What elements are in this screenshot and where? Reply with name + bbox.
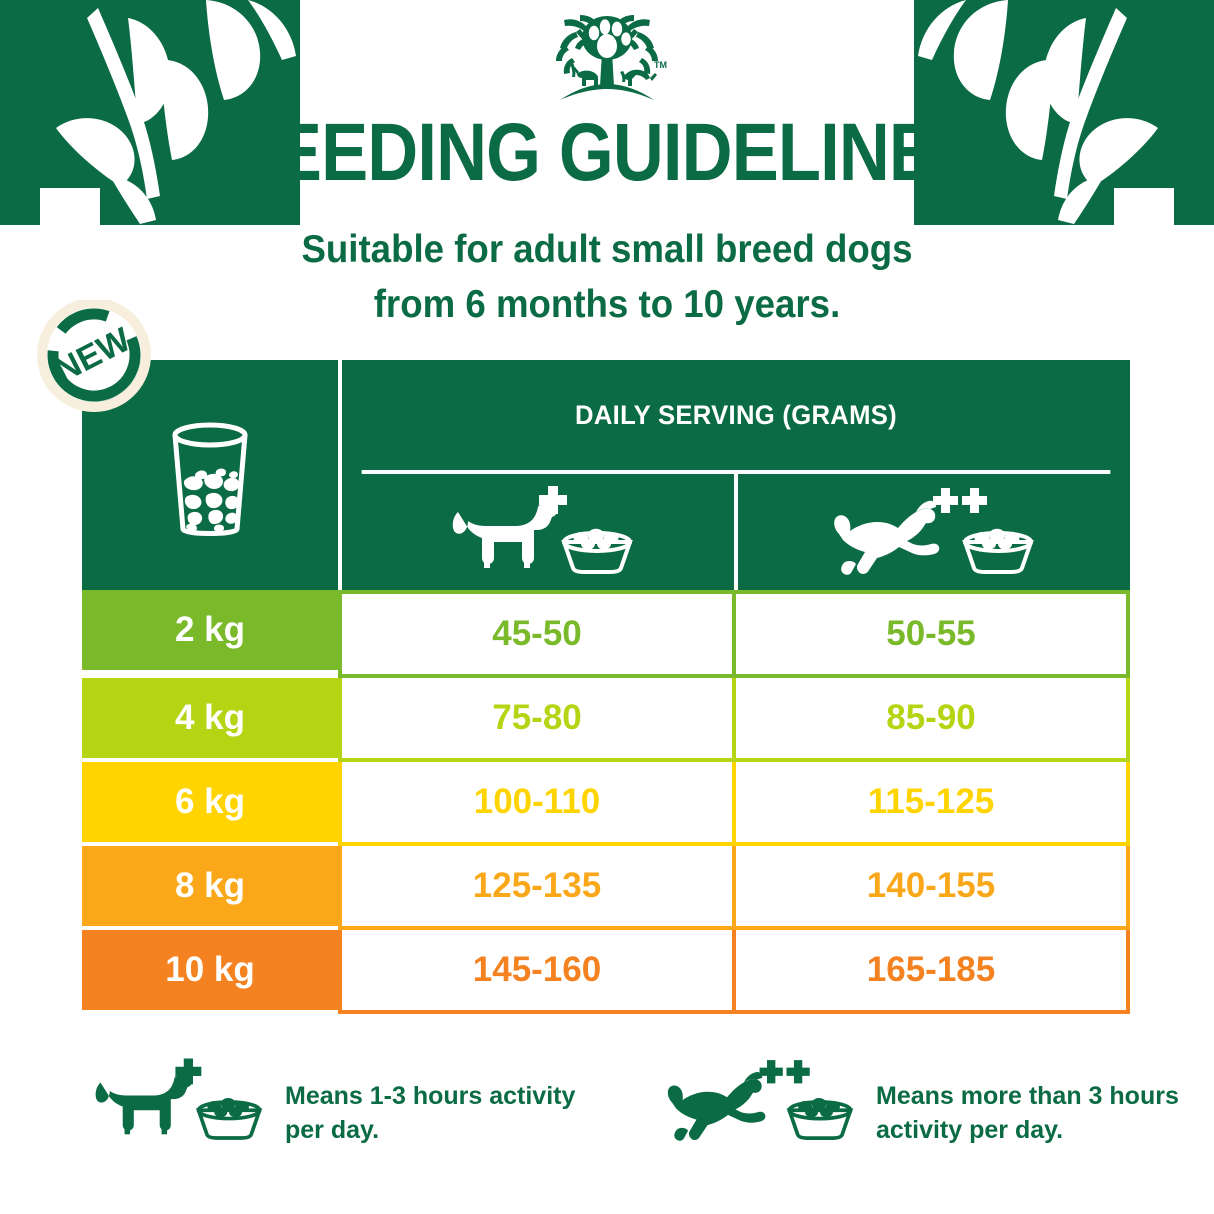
legend: Means 1-3 hours activity per day. — [0, 1050, 1214, 1170]
row-values: 75-8085-90 — [338, 678, 1130, 762]
row-high-activity-value: 50-55 — [732, 594, 1126, 674]
row-low-activity-value: 75-80 — [342, 678, 732, 758]
row-low-activity-value: 100-110 — [342, 762, 732, 842]
table-header: DAILY SERVING (GRAMS) — [82, 360, 1130, 590]
new-badge: NEW — [26, 300, 176, 418]
table-row: 6 kg100-110115-125 — [82, 762, 1130, 846]
row-values: 125-135140-155 — [338, 846, 1130, 930]
standing-dog-bowl-icon — [82, 1058, 267, 1144]
row-high-activity-value: 165-185 — [732, 930, 1126, 1010]
row-weight-cell: 8 kg — [82, 846, 338, 926]
table-row: 10 kg145-160165-185 — [82, 930, 1130, 1014]
page-subtitle: Suitable for adult small breed dogs from… — [36, 222, 1177, 333]
trademark-mark: TM — [654, 60, 667, 70]
tree-paw-logo-icon: TM — [542, 14, 672, 106]
daily-serving-header: DAILY SERVING (GRAMS) — [362, 360, 1111, 474]
row-low-activity-value: 145-160 — [342, 930, 732, 1010]
standing-dog-bowl-icon — [342, 474, 734, 590]
legend-text-low-activity: Means 1-3 hours activity per day. — [285, 1058, 575, 1147]
row-values: 145-160165-185 — [338, 930, 1130, 1014]
row-weight-cell: 2 kg — [82, 590, 338, 670]
row-high-activity-value: 115-125 — [732, 762, 1126, 842]
legend-item-high-activity: Means more than 3 hours activity per day… — [663, 1058, 1179, 1147]
table-row: 4 kg75-8085-90 — [82, 678, 1130, 762]
subtitle-line-1: Suitable for adult small breed dogs — [301, 228, 912, 271]
table-body: 2 kg45-5050-554 kg75-8085-906 kg100-1101… — [82, 590, 1130, 1014]
row-high-activity-value: 140-155 — [732, 846, 1126, 926]
infographic-page: TM FEEDING GUIDELINES Suitable for adult… — [0, 0, 1214, 1214]
feeding-table: DAILY SERVING (GRAMS) — [82, 360, 1130, 1014]
jumping-dog-bowl-icon — [663, 1058, 858, 1144]
page-title: FEEDING GUIDELINES — [85, 112, 1129, 194]
legend-text-high-activity: Means more than 3 hours activity per day… — [876, 1058, 1179, 1147]
jumping-dog-bowl-icon — [734, 474, 1130, 590]
row-weight-cell: 6 kg — [82, 762, 338, 842]
table-row: 2 kg45-5050-55 — [82, 590, 1130, 678]
row-values: 100-110115-125 — [338, 762, 1130, 846]
legend-item-low-activity: Means 1-3 hours activity per day. — [82, 1058, 575, 1147]
row-values: 45-5050-55 — [338, 590, 1130, 678]
table-row: 8 kg125-135140-155 — [82, 846, 1130, 930]
row-low-activity-value: 125-135 — [342, 846, 732, 926]
subtitle-line-2: from 6 months to 10 years. — [36, 277, 1177, 332]
row-low-activity-value: 45-50 — [342, 594, 732, 674]
row-weight-cell: 10 kg — [82, 930, 338, 1010]
row-high-activity-value: 85-90 — [732, 678, 1126, 758]
row-weight-cell: 4 kg — [82, 678, 338, 758]
